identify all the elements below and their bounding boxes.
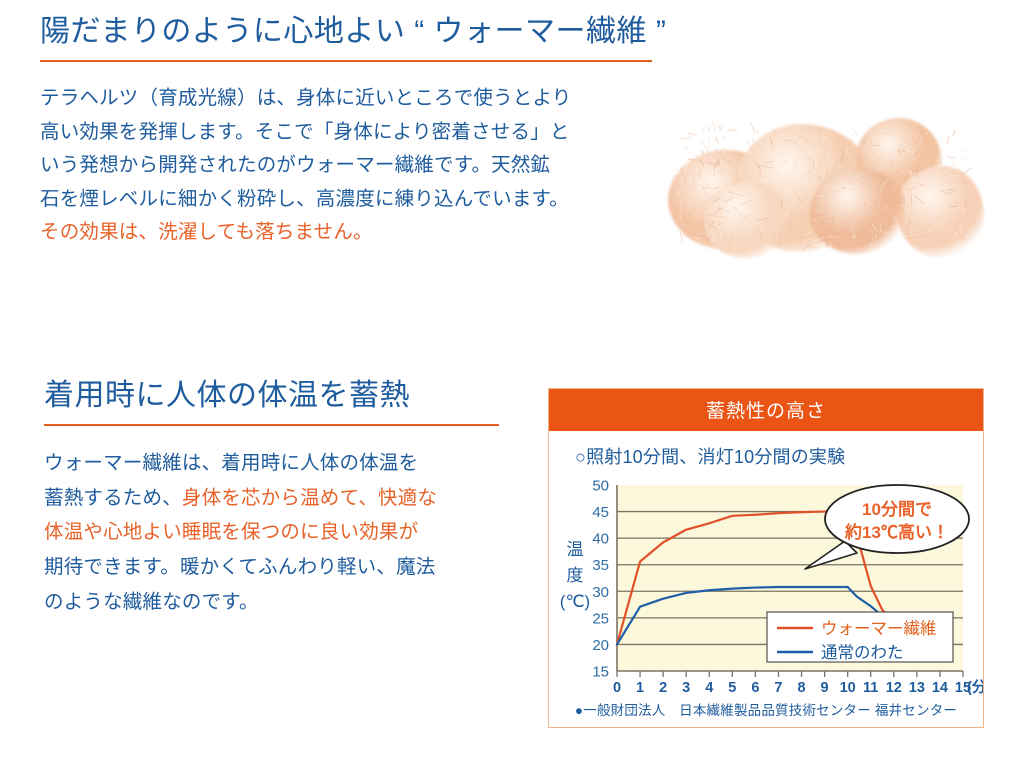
section-one-body: テラヘルツ（育成光線）は、身体に近いところで使うとより 高い効果を発揮します。そ… xyxy=(40,82,660,250)
callout-line-2: 約13℃高い！ xyxy=(844,522,949,542)
body-line-mixed: 蓄熱するため、身体を芯から温めて、快適な xyxy=(44,481,514,516)
x-tick-label: 10 xyxy=(840,680,856,696)
fiber-texture xyxy=(660,108,990,283)
section-one-heading: 陽だまりのように心地よい “ ウォーマー繊維 ” xyxy=(40,14,660,50)
section-two: 着用時に人体の体温を蓄熱 ウォーマー繊維は、着用時に人体の体温を 蓄熱するため、… xyxy=(44,378,514,620)
y-tick-label: 25 xyxy=(592,610,609,627)
callout-bubble xyxy=(825,485,969,553)
fiber-photo xyxy=(660,108,990,283)
body-line: のような繊維なのです。 xyxy=(44,585,514,620)
x-tick-label: 13 xyxy=(909,680,925,696)
chart-footnote: ●一般財団法人 日本繊維製品品質技術センター 福井センター xyxy=(549,699,983,719)
x-tick-label: 7 xyxy=(774,680,782,696)
x-tick-label: 4 xyxy=(705,680,713,696)
y-axis-label: 温 xyxy=(567,540,584,559)
body-highlight-line: 体温や心地よい睡眠を保つのに良い効果が xyxy=(44,515,514,550)
body-line: ウォーマー繊維は、着用時に人体の体温を xyxy=(44,446,514,481)
x-tick-label: 8 xyxy=(797,680,805,696)
y-tick-label: 20 xyxy=(592,637,609,654)
section-two-divider xyxy=(44,424,499,426)
x-tick-label: 12 xyxy=(886,680,902,696)
body-line: テラヘルツ（育成光線）は、身体に近いところで使うとより xyxy=(40,82,660,116)
body-line: 高い効果を発揮します。そこで「身体により密着させる」と xyxy=(40,116,660,150)
footnote-text: 一般財団法人 日本繊維製品品質技術センター 福井センター xyxy=(583,703,957,718)
x-tick-label: 5 xyxy=(728,680,736,696)
chart-panel: 蓄熱性の高さ ○照射10分間、消灯10分間の実験 152025303540455… xyxy=(548,388,984,728)
y-tick-label: 50 xyxy=(592,478,609,495)
section-one-divider xyxy=(40,60,652,62)
x-tick-label: 14 xyxy=(932,680,948,696)
chart-panel-title: 蓄熱性の高さ xyxy=(549,389,983,431)
legend-label: 通常のわた xyxy=(821,643,904,662)
body-line: 期待できます。暖かくてふんわり軽い、魔法 xyxy=(44,550,514,585)
x-tick-label: 3 xyxy=(682,680,690,696)
section-one: 陽だまりのように心地よい “ ウォーマー繊維 ” テラヘルツ（育成光線）は、身体… xyxy=(40,14,660,250)
x-axis-unit-label: (分) xyxy=(967,679,983,696)
y-tick-label: 45 xyxy=(592,504,609,521)
x-tick-label: 0 xyxy=(613,680,621,696)
legend-label: ウォーマー繊維 xyxy=(821,619,937,638)
y-axis-label: 度 xyxy=(567,566,584,585)
footnote-bullet-icon: ● xyxy=(575,703,583,718)
chart-subtitle: ○照射10分間、消灯10分間の実験 xyxy=(575,443,983,469)
x-tick-label: 2 xyxy=(659,680,667,696)
body-line: いう発想から開発されたのがウォーマー繊維です。天然鉱 xyxy=(40,149,660,183)
x-tick-label: 6 xyxy=(751,680,759,696)
chart-area: 15202530354045500123456789101112131415(分… xyxy=(549,475,983,707)
section-two-body: ウォーマー繊維は、着用時に人体の体温を 蓄熱するため、身体を芯から温めて、快適な… xyxy=(44,446,514,620)
infographic-page: 陽だまりのように心地よい “ ウォーマー繊維 ” テラヘルツ（育成光線）は、身体… xyxy=(0,0,1024,766)
body-span-highlight: 身体を芯から温めて、快適な xyxy=(182,487,437,509)
x-tick-label: 11 xyxy=(863,680,878,696)
y-tick-label: 30 xyxy=(592,584,609,601)
y-tick-label: 40 xyxy=(592,531,609,548)
body-span: 蓄熱するため、 xyxy=(44,487,182,509)
callout-line-1: 10分間で xyxy=(862,500,932,519)
section-two-heading: 着用時に人体の体温を蓄熱 xyxy=(44,378,514,414)
x-tick-label: 9 xyxy=(821,680,829,696)
y-axis-label: (℃) xyxy=(560,592,590,611)
body-highlight-line: その効果は、洗濯しても落ちません。 xyxy=(40,216,660,250)
y-tick-label: 15 xyxy=(592,664,609,681)
y-tick-label: 35 xyxy=(592,557,609,574)
x-tick-label: 1 xyxy=(636,680,644,696)
temperature-line-chart: 15202530354045500123456789101112131415(分… xyxy=(549,475,983,707)
body-line: 石を煙レベルに細かく粉砕し、高濃度に練り込んでいます。 xyxy=(40,183,660,217)
